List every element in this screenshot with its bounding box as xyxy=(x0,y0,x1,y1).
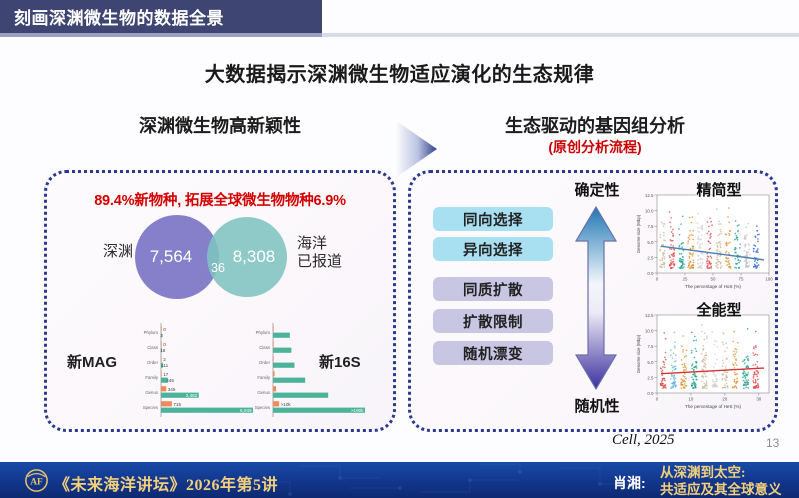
right-panel: 同向选择异向选择同质扩散扩散限制随机漂变 确定性 随机性 精简型 0.02.55… xyxy=(408,170,778,432)
svg-text:2,482: 2,482 xyxy=(186,393,198,398)
right-section-heading: 生态驱动的基因组分析 xyxy=(430,112,760,138)
svg-text:2.5: 2.5 xyxy=(647,255,654,260)
svg-text:0: 0 xyxy=(163,342,166,347)
svg-text:2.5: 2.5 xyxy=(647,375,654,380)
svg-text:AF: AF xyxy=(30,477,43,487)
svg-text:Genome size (Mbp): Genome size (Mbp) xyxy=(636,214,641,253)
svg-text:>190k: >190k xyxy=(351,408,364,413)
svg-text:100: 100 xyxy=(765,277,773,282)
mag-taxonomy-bar-chart: Phylum03Class018Order2111Family17445Genu… xyxy=(131,321,259,419)
svg-text:10.0: 10.0 xyxy=(645,329,654,334)
svg-text:Genome size (Mbp): Genome size (Mbp) xyxy=(636,334,641,373)
venn-left-value: 7,564 xyxy=(150,247,193,267)
footer-topic: 从深渊到太空: 共适应及其全球意义 xyxy=(660,464,799,498)
venn-right-value: 8,308 xyxy=(233,247,276,267)
process-pill-3[interactable]: 同质扩散 xyxy=(433,277,553,301)
page-title: 刻画深渊微生物的数据全景 xyxy=(14,4,224,29)
slide-canvas: 刻画深渊微生物的数据全景 大数据揭示深渊微生物适应演化的生态规律 深渊微生物高新… xyxy=(0,0,799,498)
svg-text:2: 2 xyxy=(163,357,166,362)
svg-text:18: 18 xyxy=(160,348,166,353)
footer-bar: AF 《未来海洋讲坛》2026年第5讲 肖湘: 从深渊到太空: 共适应及其全球意… xyxy=(0,462,799,498)
main-heading: 大数据揭示深渊微生物适应演化的生态规律 xyxy=(0,58,799,87)
svg-text:Order: Order xyxy=(147,360,159,365)
process-pill-1[interactable]: 同向选择 xyxy=(433,207,553,231)
header-divider-accent xyxy=(0,33,322,37)
svg-text:Species: Species xyxy=(143,405,158,410)
slide-header-bar: 刻画深渊微生物的数据全景 xyxy=(0,0,322,33)
svg-text:5.0: 5.0 xyxy=(647,360,654,365)
right-section-subnote: (原创分析流程) xyxy=(430,137,760,157)
svg-text:12.5: 12.5 xyxy=(645,313,654,318)
page-number: 13 xyxy=(766,436,779,450)
svg-text:3: 3 xyxy=(160,333,163,338)
svg-text:Species: Species xyxy=(255,405,270,410)
svg-text:0: 0 xyxy=(656,277,659,282)
left-panel: 89.4%新物种, 拓展全球微生物物种6.9% 深渊 7,564 8,308 3… xyxy=(44,170,396,432)
svg-text:Class: Class xyxy=(147,345,158,350)
svg-text:12.5: 12.5 xyxy=(645,193,654,198)
s16-taxonomy-bar-chart: PhylumClassOrderFamilyGenusSpecies>10k>1… xyxy=(243,321,371,419)
svg-text:17: 17 xyxy=(163,372,169,377)
svg-text:0: 0 xyxy=(163,327,166,332)
process-pill-label: 扩散限制 xyxy=(463,311,523,332)
determinism-stochasticity-arrow-icon xyxy=(573,205,619,391)
novelty-statistic: 89.4%新物种, 拓展全球微生物物种6.9% xyxy=(47,189,393,210)
venn-diagram: 深渊 7,564 8,308 36 海洋 已报道 xyxy=(47,213,393,305)
streamlined-scatter-title: 精简型 xyxy=(667,179,771,200)
versatile-scatter-title: 全能型 xyxy=(667,299,771,320)
venn-overlap-value: 36 xyxy=(200,261,236,275)
svg-text:50: 50 xyxy=(711,277,716,282)
svg-text:7.5: 7.5 xyxy=(647,344,654,349)
process-pill-label: 同质扩散 xyxy=(463,279,523,300)
left-section-heading: 深渊微生物高新颖性 xyxy=(55,112,385,138)
svg-text:345: 345 xyxy=(168,387,176,392)
svg-text:Order: Order xyxy=(259,360,271,365)
footer-topic-line2: 共适应及其全球意义 xyxy=(660,481,799,498)
footer-topic-line1: 从深渊到太空: xyxy=(660,464,799,481)
svg-text:10.0: 10.0 xyxy=(645,209,654,214)
svg-text:>10k: >10k xyxy=(281,402,292,407)
footer-series-title: 《未来海洋讲坛》2026年第5讲 xyxy=(54,471,278,495)
svg-text:75: 75 xyxy=(739,277,744,282)
svg-text:10: 10 xyxy=(688,397,693,402)
svg-text:20: 20 xyxy=(722,397,727,402)
streamlined-scatter-plot: 精简型 0.02.55.07.510.012.50255075100The pe… xyxy=(633,181,773,297)
svg-text:The percentage of HeS (%): The percentage of HeS (%) xyxy=(685,404,741,409)
svg-text:7.5: 7.5 xyxy=(647,224,654,229)
footer-speaker-name: 肖湘: xyxy=(613,473,646,493)
venn-right-label-line1: 海洋 xyxy=(297,235,381,253)
process-pill-label: 随机漂变 xyxy=(463,343,523,364)
venn-left-label: 深渊 xyxy=(67,243,133,261)
process-pill-2[interactable]: 异向选择 xyxy=(433,237,553,261)
venn-right-label-line2: 已报道 xyxy=(297,253,381,271)
svg-text:25: 25 xyxy=(683,277,688,282)
svg-text:445: 445 xyxy=(166,378,174,383)
venn-right-label: 海洋 已报道 xyxy=(297,235,381,270)
process-pill-label: 同向选择 xyxy=(463,209,523,230)
process-pill-label: 异向选择 xyxy=(463,239,523,260)
process-pill-5[interactable]: 随机漂变 xyxy=(433,341,553,365)
svg-text:30: 30 xyxy=(756,397,761,402)
svg-text:Genus: Genus xyxy=(257,390,270,395)
svg-text:0.0: 0.0 xyxy=(647,391,654,396)
svg-text:The percentage of HoS (%): The percentage of HoS (%) xyxy=(685,284,741,289)
svg-text:Family: Family xyxy=(257,375,271,380)
journal-reference: Cell, 2025 xyxy=(612,432,675,449)
venn-circle-ocean: 8,308 xyxy=(207,217,287,297)
versatile-scatter-plot: 全能型 0.02.55.07.510.012.50102030The perce… xyxy=(633,301,773,417)
process-pill-4[interactable]: 扩散限制 xyxy=(433,309,553,333)
svg-text:111: 111 xyxy=(161,363,168,368)
svg-text:Phylum: Phylum xyxy=(144,330,159,335)
mag-chart-label: 新MAG xyxy=(67,351,117,372)
svg-text:5.0: 5.0 xyxy=(647,240,654,245)
svg-text:0: 0 xyxy=(656,397,659,402)
svg-text:Family: Family xyxy=(145,375,159,380)
svg-text:Class: Class xyxy=(259,345,270,350)
svg-text:0.0: 0.0 xyxy=(647,271,654,276)
svg-text:Phylum: Phylum xyxy=(256,330,271,335)
svg-text:715: 715 xyxy=(173,402,181,407)
svg-text:Genus: Genus xyxy=(145,390,158,395)
forum-logo-icon: AF xyxy=(24,468,49,493)
